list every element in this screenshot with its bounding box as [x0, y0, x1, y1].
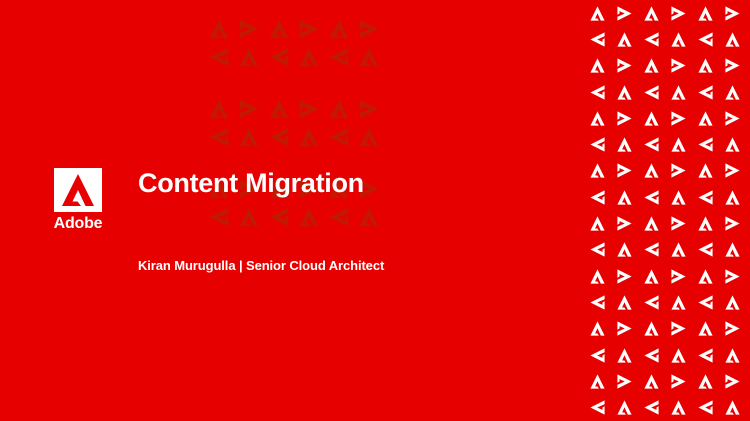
- adobe-a-logo-icon: [670, 31, 687, 48]
- pattern-row: [589, 105, 750, 131]
- adobe-a-logo-icon: [616, 373, 633, 390]
- adobe-a-logo-icon: [616, 110, 633, 127]
- adobe-a-logo-icon: [643, 136, 660, 153]
- adobe-a-logo-icon: [724, 136, 741, 153]
- adobe-a-logo-icon: [358, 126, 380, 148]
- adobe-a-logo-icon: [643, 110, 660, 127]
- pattern-row: [589, 237, 750, 263]
- adobe-a-logo-icon: [724, 241, 741, 258]
- adobe-a-logo-icon: [616, 347, 633, 364]
- pattern-row: [589, 289, 750, 315]
- pattern-row: [589, 342, 750, 368]
- adobe-a-logo-icon: [298, 46, 320, 68]
- adobe-a-logo-icon: [697, 162, 714, 179]
- pattern-row: [589, 184, 750, 210]
- pattern-row: [589, 368, 750, 394]
- adobe-a-logo-icon: [616, 294, 633, 311]
- adobe-a-logo-icon: [670, 399, 687, 416]
- adobe-a-logo-icon: [670, 294, 687, 311]
- adobe-a-logo-icon: [724, 189, 741, 206]
- adobe-logo: Adobe: [52, 168, 104, 233]
- adobe-a-logo-icon: [358, 98, 380, 120]
- adobe-a-logo-icon: [616, 215, 633, 232]
- adobe-a-logo-icon: [724, 5, 741, 22]
- adobe-a-logo-icon: [238, 206, 260, 228]
- adobe-a-logo-icon: [268, 18, 290, 40]
- adobe-a-logo-icon: [643, 57, 660, 74]
- adobe-wordmark: Adobe: [52, 215, 104, 233]
- adobe-a-logo-icon: [208, 18, 230, 40]
- adobe-a-logo-icon: [643, 399, 660, 416]
- adobe-a-logo-icon: [208, 98, 230, 120]
- adobe-a-logo-icon: [208, 126, 230, 148]
- presentation-slide: Adobe Content Migration Kiran Murugulla …: [0, 0, 750, 421]
- adobe-a-logo-icon: [697, 347, 714, 364]
- adobe-a-logo-icon: [298, 18, 320, 40]
- adobe-a-logo-icon: [268, 98, 290, 120]
- adobe-a-logo-icon: [616, 136, 633, 153]
- adobe-a-logo-icon: [724, 31, 741, 48]
- adobe-a-logo-icon: [670, 110, 687, 127]
- pattern-row: [208, 126, 388, 152]
- adobe-a-logo-icon: [589, 215, 606, 232]
- pattern-row: [589, 158, 750, 184]
- adobe-a-logo-icon: [643, 294, 660, 311]
- adobe-a-logo-icon: [724, 320, 741, 337]
- adobe-a-logo-icon: [697, 215, 714, 232]
- adobe-a-logo-icon: [298, 206, 320, 228]
- adobe-a-logo-icon: [358, 206, 380, 228]
- pattern-row: [208, 18, 388, 44]
- pattern-row: [589, 316, 750, 342]
- adobe-a-logo-icon: [697, 320, 714, 337]
- pattern-row: [589, 0, 750, 26]
- adobe-a-logo-icon: [589, 57, 606, 74]
- adobe-a-logo-icon: [589, 162, 606, 179]
- adobe-a-logo-icon: [643, 162, 660, 179]
- adobe-a-logo-icon: [697, 110, 714, 127]
- ghost-decorative-pattern: [208, 18, 388, 156]
- adobe-a-logo-icon: [643, 5, 660, 22]
- adobe-a-logo-icon: [697, 84, 714, 101]
- pattern-row: [589, 79, 750, 105]
- adobe-a-logo-icon: [697, 268, 714, 285]
- adobe-a-logo-icon: [643, 84, 660, 101]
- pattern-row: [208, 206, 388, 232]
- adobe-a-logo-icon: [589, 136, 606, 153]
- adobe-a-logo-icon: [697, 294, 714, 311]
- adobe-a-logo-icon: [697, 57, 714, 74]
- adobe-a-logo-icon: [616, 162, 633, 179]
- pattern-row: [589, 394, 750, 420]
- adobe-a-logo-icon: [358, 46, 380, 68]
- adobe-a-logo-icon: [589, 373, 606, 390]
- adobe-a-logo-icon: [643, 31, 660, 48]
- adobe-a-logo-icon: [724, 373, 741, 390]
- adobe-a-logo-icon: [724, 294, 741, 311]
- adobe-a-logo-icon: [589, 241, 606, 258]
- pattern-row: [589, 53, 750, 79]
- adobe-a-logo-icon: [298, 98, 320, 120]
- adobe-a-logo-icon: [616, 57, 633, 74]
- adobe-a-logo-icon: [589, 84, 606, 101]
- adobe-a-logo-icon: [589, 320, 606, 337]
- adobe-a-logo-icon: [670, 373, 687, 390]
- adobe-a-logo-icon: [697, 399, 714, 416]
- adobe-a-logo-icon: [670, 268, 687, 285]
- adobe-a-logo-icon: [238, 126, 260, 148]
- adobe-a-logo-icon: [724, 399, 741, 416]
- adobe-a-logo-icon: [670, 57, 687, 74]
- adobe-a-logo-icon: [697, 5, 714, 22]
- pattern-row: [208, 98, 388, 124]
- adobe-a-logo-icon: [616, 399, 633, 416]
- adobe-a-logo-icon: [643, 347, 660, 364]
- adobe-a-logo-icon: [643, 268, 660, 285]
- adobe-a-logo-icon: [328, 98, 350, 120]
- adobe-a-logo-icon: [724, 57, 741, 74]
- adobe-a-logo-icon: [589, 5, 606, 22]
- adobe-a-logo-icon: [616, 241, 633, 258]
- adobe-a-logo-icon: [616, 320, 633, 337]
- adobe-a-logo-icon: [724, 110, 741, 127]
- adobe-a-logo-icon: [670, 5, 687, 22]
- adobe-a-logo-icon: [670, 241, 687, 258]
- adobe-a-logo-icon: [670, 189, 687, 206]
- pattern-row: [589, 26, 750, 52]
- adobe-a-logo-icon: [589, 31, 606, 48]
- adobe-a-logo-icon: [328, 18, 350, 40]
- adobe-a-logo-icon: [268, 206, 290, 228]
- adobe-a-logo-icon: [616, 84, 633, 101]
- adobe-a-logo-icon: [670, 347, 687, 364]
- adobe-a-logo-icon: [589, 347, 606, 364]
- adobe-a-logo-icon: [54, 168, 102, 212]
- adobe-a-logo-icon: [724, 162, 741, 179]
- adobe-a-logo-icon: [643, 241, 660, 258]
- adobe-a-logo-icon: [697, 189, 714, 206]
- adobe-a-logo-icon: [208, 46, 230, 68]
- pattern-row: [208, 46, 388, 72]
- adobe-a-logo-icon: [589, 110, 606, 127]
- adobe-a-logo-icon: [670, 215, 687, 232]
- adobe-a-logo-icon: [589, 399, 606, 416]
- adobe-a-logo-icon: [268, 126, 290, 148]
- adobe-a-logo-icon: [238, 46, 260, 68]
- adobe-a-logo-icon: [643, 320, 660, 337]
- adobe-a-logo-icon: [268, 46, 290, 68]
- adobe-a-logo-icon: [589, 189, 606, 206]
- adobe-a-logo-icon: [724, 84, 741, 101]
- adobe-a-logo-icon: [589, 294, 606, 311]
- right-decorative-pattern: [589, 0, 750, 421]
- page-title: Content Migration: [138, 168, 364, 199]
- adobe-a-logo-icon: [328, 126, 350, 148]
- adobe-a-logo-icon: [328, 206, 350, 228]
- adobe-a-logo-icon: [643, 215, 660, 232]
- adobe-a-logo-icon: [670, 84, 687, 101]
- adobe-a-logo-icon: [670, 320, 687, 337]
- adobe-a-logo-icon: [616, 5, 633, 22]
- adobe-a-logo-icon: [643, 373, 660, 390]
- adobe-a-logo-icon: [724, 268, 741, 285]
- adobe-a-logo-icon: [616, 189, 633, 206]
- adobe-a-logo-icon: [238, 18, 260, 40]
- adobe-a-logo-icon: [670, 136, 687, 153]
- adobe-a-logo-icon: [670, 162, 687, 179]
- adobe-a-logo-icon: [724, 215, 741, 232]
- adobe-a-logo-icon: [328, 46, 350, 68]
- adobe-a-logo-icon: [298, 126, 320, 148]
- adobe-a-logo-icon: [358, 18, 380, 40]
- adobe-a-logo-icon: [697, 373, 714, 390]
- presenter-subtitle: Kiran Murugulla | Senior Cloud Architect: [138, 258, 384, 273]
- adobe-a-logo-icon: [697, 31, 714, 48]
- adobe-a-logo-icon: [616, 31, 633, 48]
- adobe-a-logo-icon: [208, 206, 230, 228]
- pattern-row: [589, 131, 750, 157]
- pattern-row: [589, 210, 750, 236]
- adobe-a-logo-icon: [616, 268, 633, 285]
- adobe-a-logo-icon: [697, 136, 714, 153]
- adobe-a-logo-icon: [643, 189, 660, 206]
- adobe-a-logo-icon: [238, 98, 260, 120]
- adobe-a-logo-icon: [697, 241, 714, 258]
- adobe-a-logo-icon: [724, 347, 741, 364]
- adobe-a-logo-icon: [589, 268, 606, 285]
- pattern-row: [589, 263, 750, 289]
